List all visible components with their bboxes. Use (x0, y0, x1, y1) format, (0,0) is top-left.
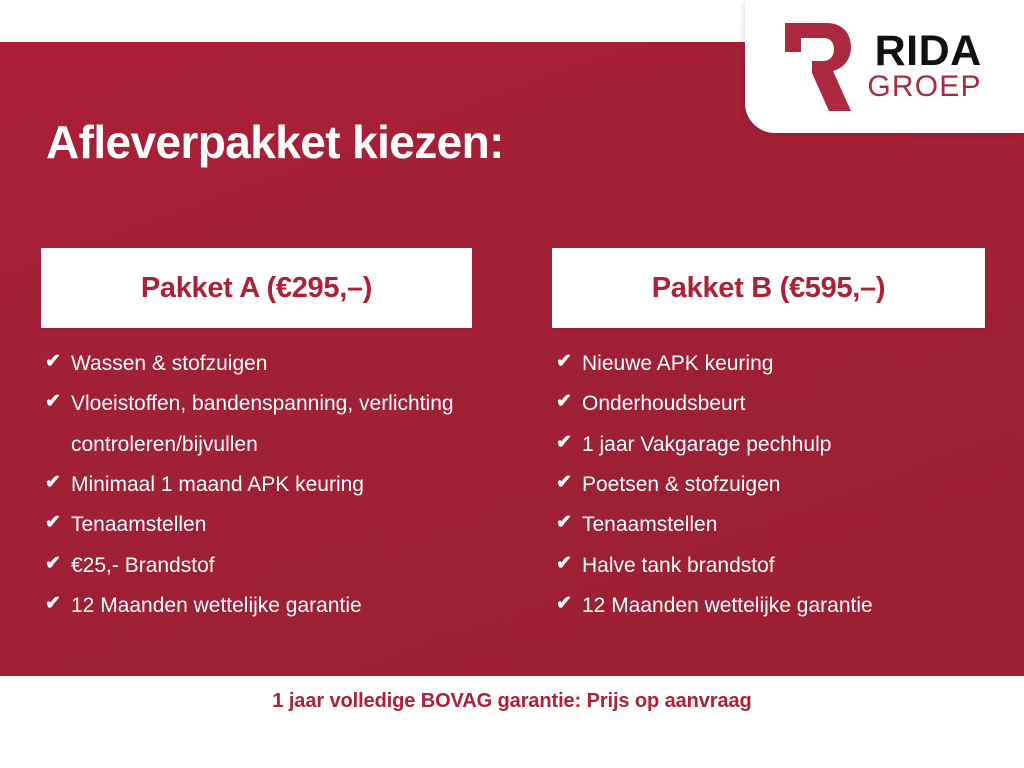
list-item-label: 12 Maanden wettelijke garantie (71, 586, 472, 626)
check-icon: ✔ (556, 465, 582, 501)
check-icon: ✔ (556, 546, 582, 582)
list-item-label: Tenaamstellen (582, 505, 985, 545)
list-item-label: Wassen & stofzuigen (71, 344, 472, 384)
list-item-label: Nieuwe APK keuring (582, 344, 985, 384)
package-b-feature-list: ✔ Nieuwe APK keuring ✔ Onderhoudsbeurt ✔… (552, 328, 985, 626)
list-item-label: 12 Maanden wettelijke garantie (582, 586, 985, 626)
list-item-label: 1 jaar Vakgarage pechhulp (582, 425, 985, 465)
check-icon: ✔ (556, 344, 582, 380)
list-item-label: Vloeistoffen, bandenspanning, verlichtin… (71, 384, 472, 465)
check-icon: ✔ (45, 384, 71, 420)
brand-logo-panel: RIDA GROEP (745, 0, 1024, 133)
list-item: ✔ Halve tank brandstof (556, 546, 985, 586)
list-item-label: €25,- Brandstof (71, 546, 472, 586)
check-icon: ✔ (556, 586, 582, 622)
list-item-label: Minimaal 1 maand APK keuring (71, 465, 472, 505)
footer-note: 1 jaar volledige BOVAG garantie: Prijs o… (272, 690, 751, 713)
check-icon: ✔ (45, 344, 71, 380)
list-item: ✔ Wassen & stofzuigen (45, 344, 472, 384)
list-item: ✔ Minimaal 1 maand APK keuring (45, 465, 472, 505)
check-icon: ✔ (556, 505, 582, 541)
list-item-label: Poetsen & stofzuigen (582, 465, 985, 505)
check-icon: ✔ (45, 546, 71, 582)
list-item: ✔ Nieuwe APK keuring (556, 344, 985, 384)
list-item-label: Tenaamstellen (71, 505, 472, 545)
package-card-b: Pakket B (€595,–) ✔ Nieuwe APK keuring ✔… (552, 248, 985, 626)
package-b-header: Pakket B (€595,–) (552, 248, 985, 328)
check-icon: ✔ (45, 465, 71, 501)
check-icon: ✔ (45, 505, 71, 541)
brand-logo: RIDA GROEP (745, 0, 1024, 133)
brand-name-secondary: GROEP (867, 73, 981, 101)
list-item: ✔ Poetsen & stofzuigen (556, 465, 985, 505)
check-icon: ✔ (556, 384, 582, 420)
brand-logo-wordmark: RIDA GROEP (867, 32, 981, 101)
list-item: ✔ Vloeistoffen, bandenspanning, verlicht… (45, 384, 472, 465)
footer-banner: 1 jaar volledige BOVAG garantie: Prijs o… (0, 676, 1024, 768)
package-card-a: Pakket A (€295,–) ✔ Wassen & stofzuigen … (41, 248, 472, 626)
slide-root: Afleverpakket kiezen: Pakket A (€295,–) … (0, 0, 1024, 768)
brand-name-primary: RIDA (875, 32, 982, 72)
list-item-label: Onderhoudsbeurt (582, 384, 985, 424)
list-item: ✔ Tenaamstellen (556, 505, 985, 545)
package-a-feature-list: ✔ Wassen & stofzuigen ✔ Vloeistoffen, ba… (41, 328, 472, 626)
package-b-title: Pakket B (€595,–) (652, 272, 886, 305)
list-item: ✔ Tenaamstellen (45, 505, 472, 545)
check-icon: ✔ (556, 425, 582, 461)
package-a-title: Pakket A (€295,–) (141, 272, 372, 305)
list-item: ✔ Onderhoudsbeurt (556, 384, 985, 424)
rida-r-monogram-icon (779, 21, 853, 113)
list-item: ✔ 12 Maanden wettelijke garantie (45, 586, 472, 626)
packages-container: Pakket A (€295,–) ✔ Wassen & stofzuigen … (0, 42, 1024, 676)
list-item: ✔ €25,- Brandstof (45, 546, 472, 586)
package-a-header: Pakket A (€295,–) (41, 248, 472, 328)
list-item: ✔ 12 Maanden wettelijke garantie (556, 586, 985, 626)
red-background-panel: Afleverpakket kiezen: Pakket A (€295,–) … (0, 42, 1024, 676)
check-icon: ✔ (45, 586, 71, 622)
list-item: ✔ 1 jaar Vakgarage pechhulp (556, 425, 985, 465)
list-item-label: Halve tank brandstof (582, 546, 985, 586)
